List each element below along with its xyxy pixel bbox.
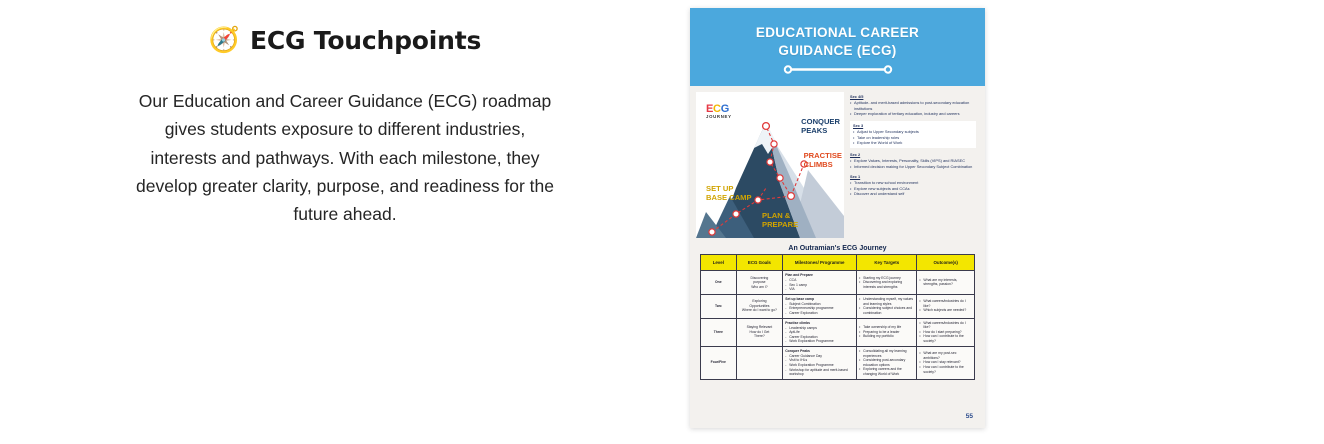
cell-list-item: Consolidating all my learning experience…: [863, 349, 914, 358]
note-block: Sec 4/5Aptitude- and merit-based admissi…: [850, 94, 976, 117]
table-row: Four/FiveConquer PeaksCareer Guidance Da…: [701, 346, 975, 379]
logo-letter-e: E: [706, 103, 713, 115]
table-row: ThreeStaying RelevantHow do I GetThere?P…: [701, 318, 975, 346]
poster-banner: EDUCATIONAL CAREER GUIDANCE (ECG): [690, 8, 985, 86]
label-set-up-base-camp: SET UP BASE CAMP: [706, 185, 752, 202]
label-practise-climbs: PRACTISE CLIMBS: [804, 152, 842, 169]
cell-milestones: Set up base campSubject CombinationEntre…: [783, 294, 857, 318]
milestone-heading: Practise climbs: [785, 321, 854, 326]
cell-key-targets: Understanding myself, my values and lear…: [857, 294, 917, 318]
cell-list-item: Work Exploration Programme: [789, 339, 854, 344]
body-paragraph: Our Education and Career Guidance (ECG) …: [130, 87, 560, 229]
table-column-header: Outcome(s): [917, 255, 975, 271]
cell-outcomes: What careers/industries do I like?Which …: [917, 294, 975, 318]
goal-line: There?: [739, 334, 781, 339]
table-row: TwoExploringOpportunitiesWhere do I want…: [701, 294, 975, 318]
poster-column: EDUCATIONAL CAREER GUIDANCE (ECG): [690, 0, 1324, 444]
cell-list-item: Building my portfolio: [863, 334, 914, 339]
cell-list-item: What are my interests, strengths, passio…: [923, 278, 972, 287]
cell-ecg-goals: Staying RelevantHow do I GetThere?: [736, 318, 783, 346]
cell-outcomes: What careers/industries do I like?How do…: [917, 318, 975, 346]
note-heading: Sec 3: [853, 123, 973, 129]
cell-level: Four/Five: [701, 346, 737, 379]
page-number: 55: [966, 413, 973, 420]
cell-outcomes: What are my post-sec ambitions?How can I…: [917, 346, 975, 379]
cell-list-item: VIA: [789, 287, 854, 292]
label-plan-and-prepare: PLAN & PREPARE: [762, 212, 798, 229]
mountain-illustration: ECG JOURNEY CONQUER PEAKS PRACTISE CLIMB…: [696, 92, 844, 238]
cell-list-item: How can I contribute to the society?: [923, 334, 972, 343]
goal-line: Who am I?: [739, 285, 781, 290]
cell-ecg-goals: ExploringOpportunitiesWhere do I want to…: [736, 294, 783, 318]
note-item: Informed decision making for Upper Secon…: [850, 164, 976, 170]
note-block: Sec 1Transition to new school environmen…: [850, 174, 976, 197]
logo-letter-g: G: [721, 103, 729, 115]
label-conquer-peaks: CONQUER PEAKS: [801, 118, 840, 135]
note-item: Discover and understand self: [850, 191, 976, 197]
cell-list-item: What careers/industries do I like?: [923, 299, 972, 308]
table-column-header: Milestones/ Programme: [783, 255, 857, 271]
banner-divider-icon: [782, 65, 894, 74]
ecg-poster-card[interactable]: EDUCATIONAL CAREER GUIDANCE (ECG): [690, 8, 985, 428]
cell-key-targets: Consolidating all my learning experience…: [857, 346, 917, 379]
note-heading: Sec 4/5: [850, 94, 976, 100]
cell-milestones: Plan and PrepareCCASec 1 campVIA: [783, 271, 857, 295]
cell-milestones: Practise climbsLeadership campsAptLifeCa…: [783, 318, 857, 346]
table-row: OneDiscoveringpurposeWho am I?Plan and P…: [701, 271, 975, 295]
goal-line: Where do I want to go?: [739, 308, 781, 313]
table-title: An Outramian's ECG Journey: [690, 245, 985, 252]
cell-key-targets: Take ownership of my lifePreparing to be…: [857, 318, 917, 346]
ecg-journey-logo: ECG JOURNEY: [706, 104, 732, 120]
banner-title-line2: GUIDANCE (ECG): [778, 42, 896, 60]
milestone-heading: Plan and Prepare: [785, 273, 854, 278]
cell-list-item: Which subjects are needed?: [923, 308, 972, 313]
cell-list-item: Career Exploration: [789, 311, 854, 316]
milestone-heading: Set up base camp: [785, 297, 854, 302]
cell-list-item: Workshop for aptitude and merit-based wo…: [789, 368, 854, 377]
page-root: 🧭 ECG Touchpoints Our Education and Care…: [0, 0, 1324, 444]
cell-milestones: Conquer PeaksCareer Guidance DayVisit to…: [783, 346, 857, 379]
logo-subtitle: JOURNEY: [706, 115, 732, 119]
note-item: Deeper exploration of tertiary education…: [850, 111, 976, 117]
note-item: Aptitude- and merit-based admissions to …: [850, 100, 976, 111]
cell-ecg-goals: DiscoveringpurposeWho am I?: [736, 271, 783, 295]
ecg-journey-table: LevelECG GoalsMilestones/ ProgrammeKey T…: [700, 254, 975, 380]
section-heading: 🧭 ECG Touchpoints: [209, 26, 481, 55]
table-wrapper: LevelECG GoalsMilestones/ ProgrammeKey T…: [700, 254, 975, 380]
compass-icon: 🧭: [209, 28, 240, 53]
level-notes-column: Sec 4/5Aptitude- and merit-based admissi…: [844, 92, 979, 240]
cell-list-item: What are my post-sec ambitions?: [923, 351, 972, 360]
banner-title-line1: EDUCATIONAL CAREER: [756, 24, 919, 42]
cell-list-item: What careers/industries do I like?: [923, 321, 972, 330]
logo-letter-c: C: [713, 103, 721, 115]
cell-list-item: Considering post-secondary education opt…: [863, 358, 914, 367]
table-header-row: LevelECG GoalsMilestones/ ProgrammeKey T…: [701, 255, 975, 271]
cell-ecg-goals: [736, 346, 783, 379]
milestone-heading: Conquer Peaks: [785, 349, 854, 354]
note-item: Explore the World of Work: [853, 140, 973, 146]
cell-list-item: Discovering and exploring interests and …: [863, 280, 914, 289]
table-column-header: ECG Goals: [736, 255, 783, 271]
page-title: ECG Touchpoints: [250, 26, 481, 55]
note-heading: Sec 1: [850, 174, 976, 180]
cell-list-item: Exploring careers and the changing World…: [863, 367, 914, 376]
cell-list-item: How can I contribute to the society?: [923, 365, 972, 374]
note-block: Sec 3Adjust to Upper Secondary subjectsT…: [850, 121, 976, 148]
cell-key-targets: Starting my ECG journeyDiscovering and e…: [857, 271, 917, 295]
cell-list-item: Understanding myself, my values and lear…: [863, 297, 914, 306]
illustration-row: ECG JOURNEY CONQUER PEAKS PRACTISE CLIMB…: [696, 92, 979, 240]
text-column: 🧭 ECG Touchpoints Our Education and Care…: [0, 0, 690, 444]
cell-level: One: [701, 271, 737, 295]
table-column-header: Key Targets: [857, 255, 917, 271]
note-block: Sec 2Explore Values, Interests, Personal…: [850, 152, 976, 169]
cell-level: Three: [701, 318, 737, 346]
cell-list-item: Considering subject choices and combinat…: [863, 306, 914, 315]
note-heading: Sec 2: [850, 152, 976, 158]
cell-outcomes: What are my interests, strengths, passio…: [917, 271, 975, 295]
table-column-header: Level: [701, 255, 737, 271]
cell-level: Two: [701, 294, 737, 318]
